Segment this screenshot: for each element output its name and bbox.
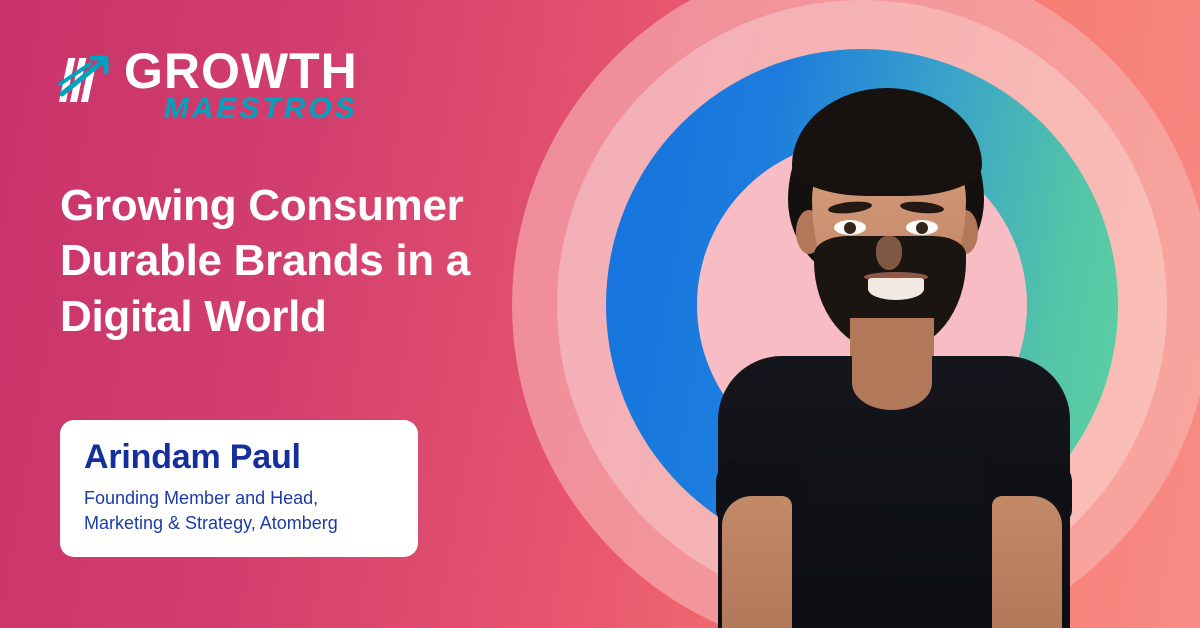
logo-wordmark: GROWTH MAESTROS — [124, 46, 358, 124]
arm-left — [722, 496, 792, 628]
hair-top-shape — [792, 88, 982, 196]
speaker-name: Arindam Paul — [84, 440, 394, 476]
page-title: Growing Consumer Durable Brands in a Dig… — [60, 178, 560, 344]
logo-growth-text: GROWTH — [124, 46, 358, 96]
arm-right — [992, 496, 1062, 628]
brand-logo[interactable]: GROWTH MAESTROS — [56, 46, 358, 124]
eye-left — [834, 220, 866, 235]
speaker-card: Arindam Paul Founding Member and Head, M… — [60, 420, 418, 557]
speaker-title: Founding Member and Head, Marketing & St… — [84, 486, 394, 536]
shirt-collar — [852, 356, 932, 410]
speaker-photo — [600, 60, 1200, 628]
growth-arrow-bars-icon — [56, 50, 118, 112]
mouth-shape — [868, 278, 924, 300]
promo-banner: GROWTH MAESTROS Growing Consumer Durable… — [0, 0, 1200, 628]
eye-right — [906, 220, 938, 235]
nose-shape — [876, 236, 902, 270]
